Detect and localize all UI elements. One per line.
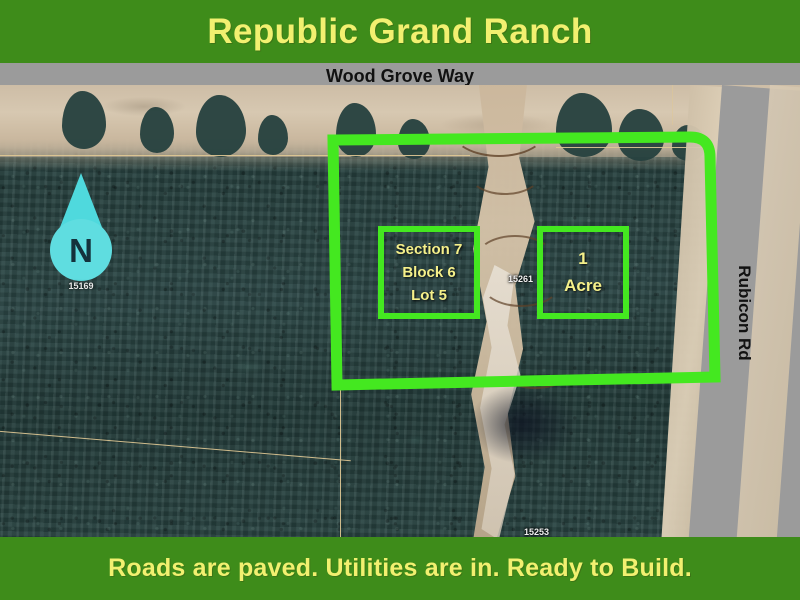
lot-label-section: Section 7 bbox=[396, 238, 463, 261]
title-banner: Republic Grand Ranch bbox=[0, 0, 800, 63]
compass-circle: N bbox=[50, 219, 112, 281]
compass-rose: N 15169 bbox=[46, 173, 116, 291]
dirt-track bbox=[468, 151, 542, 195]
lot-box-acreage: 1 Acre bbox=[537, 226, 629, 319]
parcel-id-15169: 15169 bbox=[46, 281, 116, 291]
compass-north-letter: N bbox=[69, 234, 93, 267]
shadow-patch bbox=[470, 385, 575, 463]
footer-text: Roads are paved. Utilities are in. Ready… bbox=[108, 554, 692, 583]
satellite-map: Rubicon Rd Section 7 Block 6 Lot 5 1 Acr… bbox=[0, 85, 800, 540]
acreage-unit: Acre bbox=[564, 273, 602, 299]
parcel-id-15261: 15261 bbox=[508, 274, 533, 284]
lot-label-lot: Lot 5 bbox=[411, 284, 447, 307]
survey-line-vertical bbox=[672, 85, 673, 125]
parcel-id-15253: 15253 bbox=[524, 527, 549, 537]
dirt-track bbox=[492, 335, 578, 389]
road-label-rubicon-rd: Rubicon Rd bbox=[734, 265, 754, 360]
dirt-track bbox=[452, 105, 546, 157]
footer-banner: Roads are paved. Utilities are in. Ready… bbox=[0, 537, 800, 600]
survey-line-horizontal bbox=[556, 147, 706, 148]
survey-line-vertical bbox=[340, 375, 341, 540]
listing-map-graphic: Republic Grand Ranch Wood Grove Way bbox=[0, 0, 800, 600]
lot-label-block: Block 6 bbox=[402, 261, 455, 284]
lot-box-section-block-lot: Section 7 Block 6 Lot 5 bbox=[378, 226, 480, 319]
acreage-value: 1 bbox=[578, 246, 587, 272]
page-title: Republic Grand Ranch bbox=[207, 12, 592, 52]
survey-line-horizontal bbox=[0, 155, 470, 156]
